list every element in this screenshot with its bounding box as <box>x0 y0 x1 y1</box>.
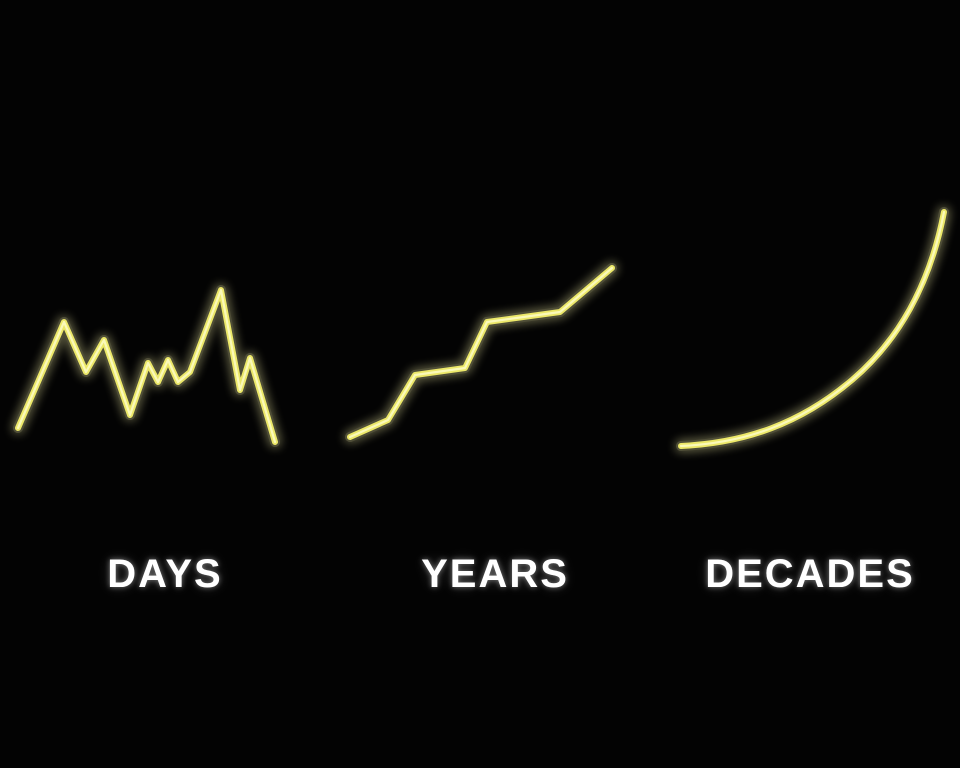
days-line-chart <box>0 0 330 768</box>
days-series-core <box>18 290 275 442</box>
decades-line-chart <box>660 0 960 768</box>
chart-label-days: DAYS <box>0 552 330 596</box>
decades-series-line <box>681 212 944 446</box>
chart-panel-years: YEARS <box>330 0 660 768</box>
years-line-chart <box>330 0 660 768</box>
years-series-glow <box>350 268 612 437</box>
meme-chart-canvas: DAYS YEARS <box>0 0 960 768</box>
chart-panel-days: DAYS <box>0 0 330 768</box>
chart-label-years: YEARS <box>330 552 660 596</box>
chart-panel-decades: DECADES <box>660 0 960 768</box>
chart-label-decades: DECADES <box>660 552 960 596</box>
